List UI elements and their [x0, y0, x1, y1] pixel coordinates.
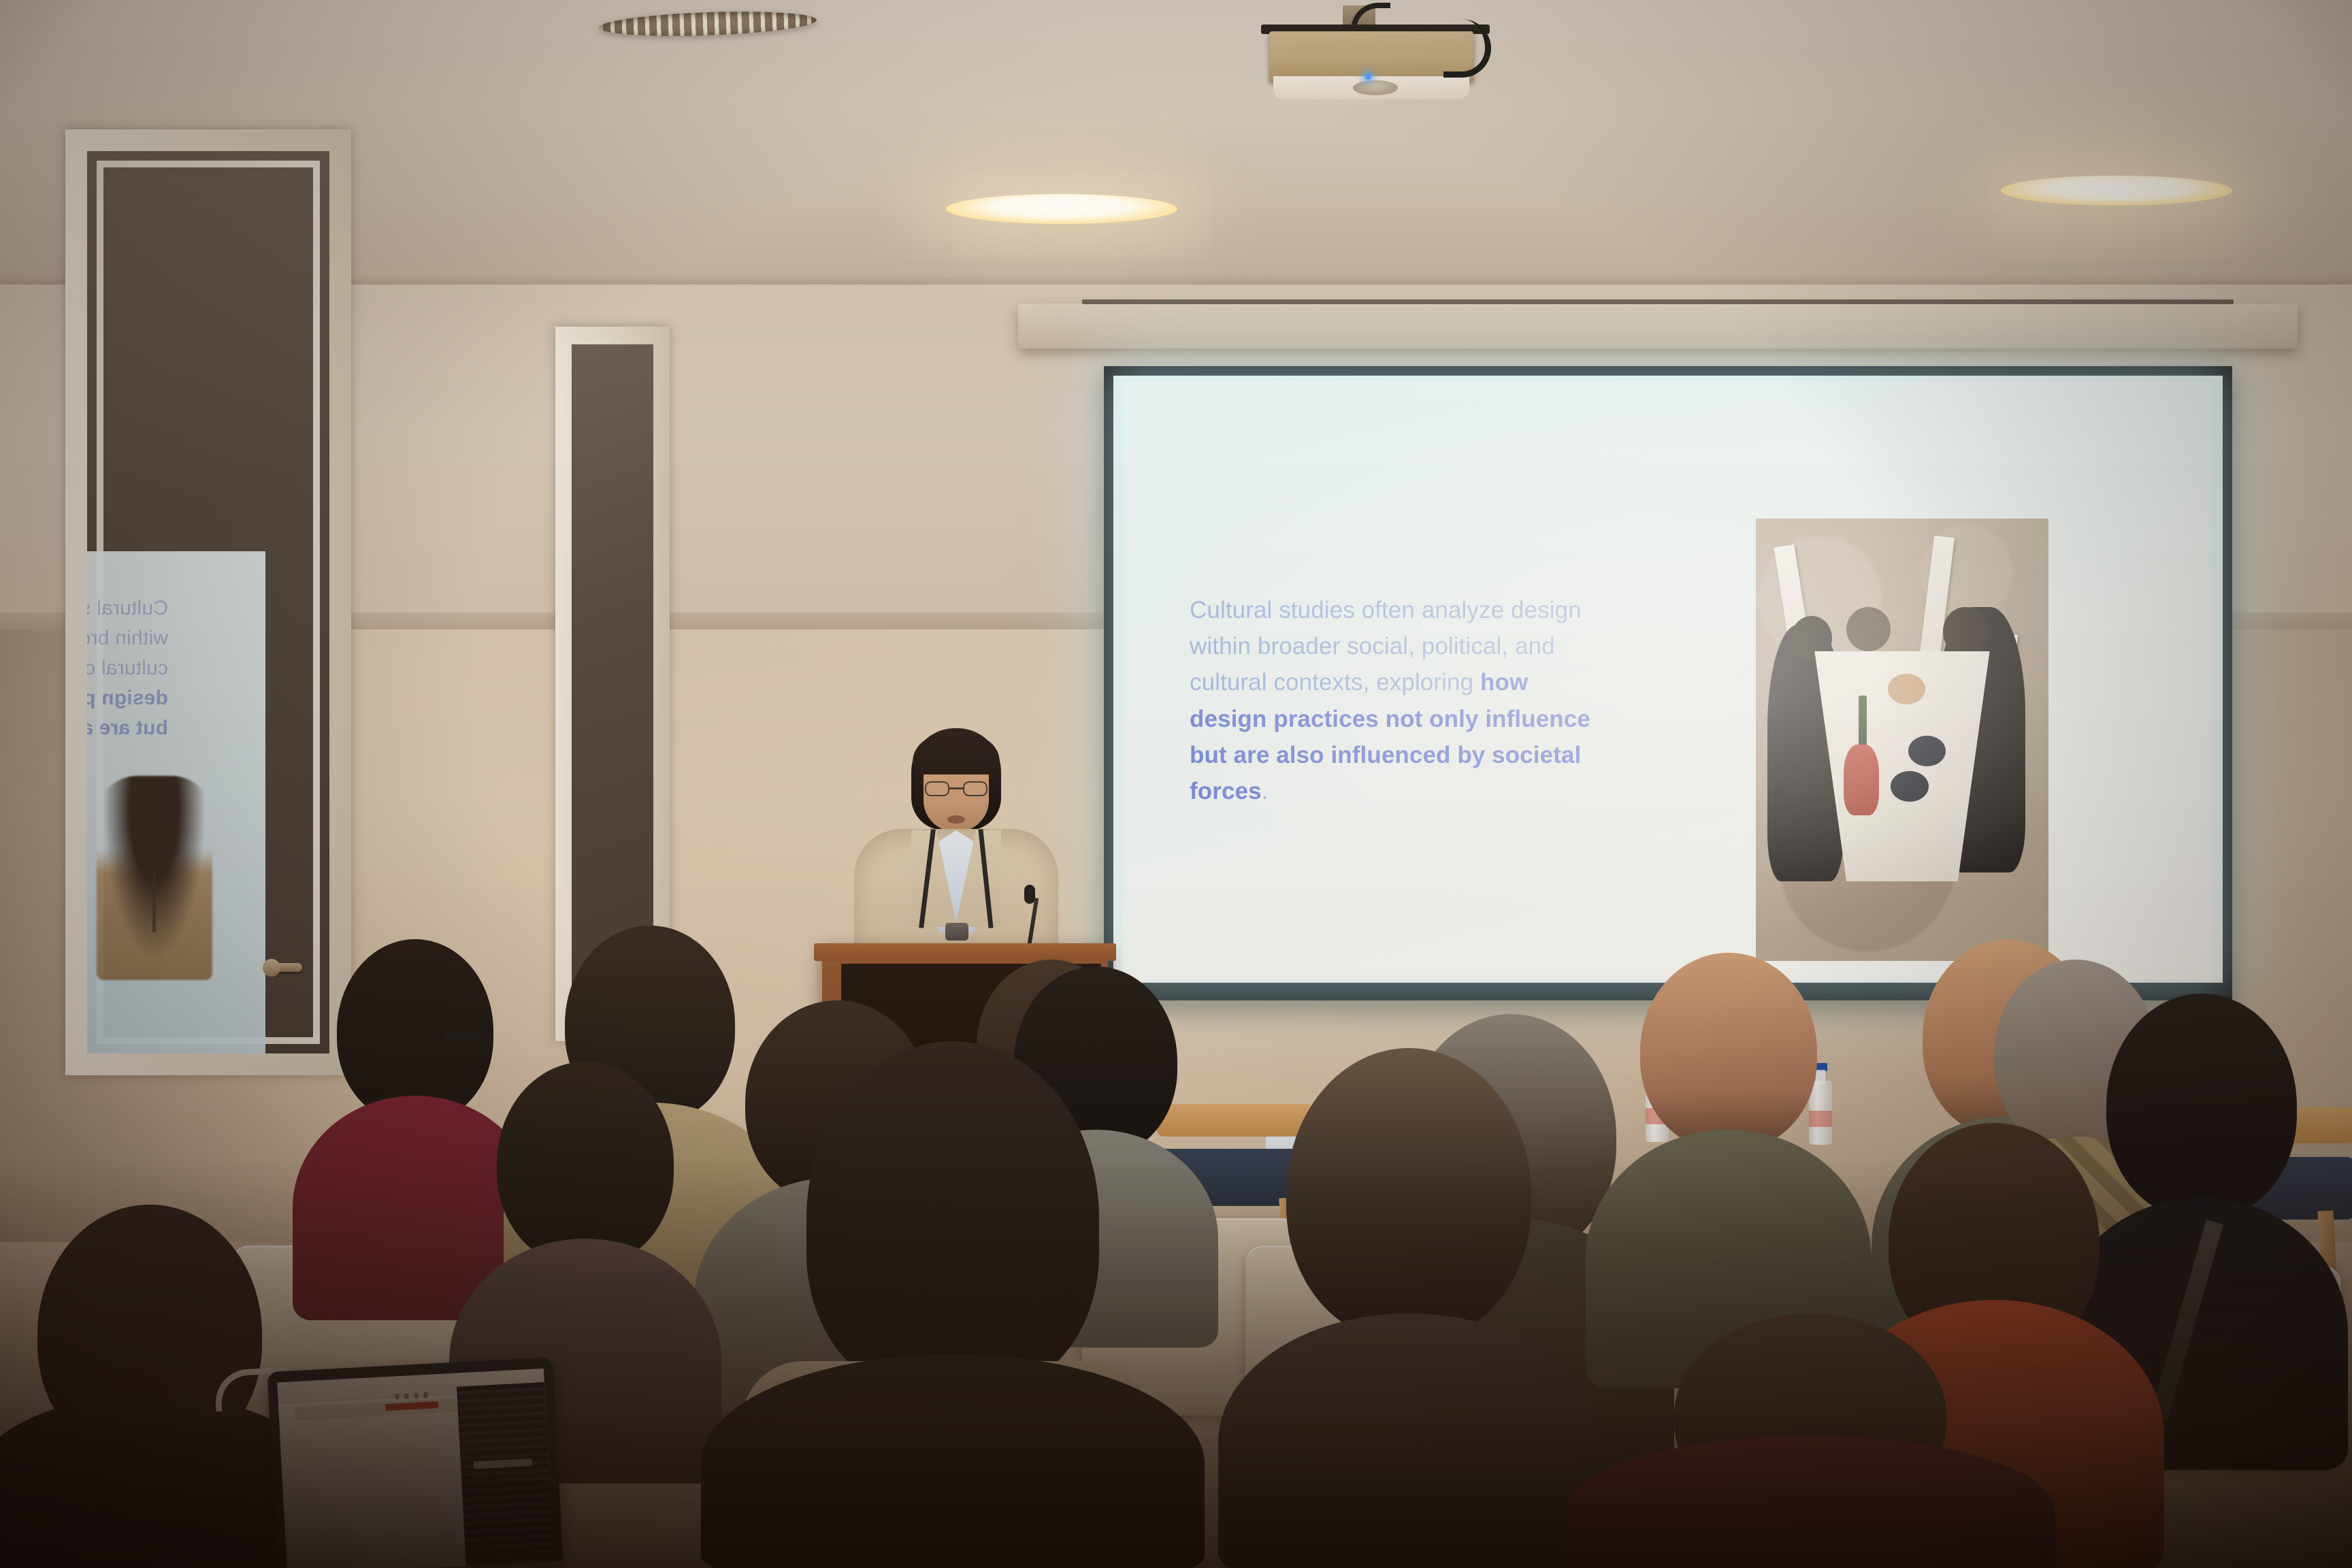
speaker-mouth: [947, 815, 965, 823]
projector-body: [1269, 31, 1473, 82]
slide-photo-dish-2: [1908, 736, 1946, 767]
slide-text-period: .: [1262, 778, 1269, 804]
projector-lens-icon: [1353, 80, 1398, 95]
conference-room-scene: Cultural s within bro cultural co design…: [0, 0, 2352, 1568]
reflected-projection: Cultural s within bro cultural co design…: [87, 551, 265, 1053]
ceiling: [0, 0, 2352, 293]
reflected-line-1: Cultural s: [87, 597, 168, 619]
speaker-glasses-icon: [925, 781, 987, 796]
reflected-line-3: cultural co: [87, 657, 168, 679]
slide-photo-head-back: [1846, 607, 1891, 651]
glasses-icon: [444, 1034, 479, 1040]
slide-photo-dish-1: [1888, 674, 1926, 705]
screen-surface: Cultural studies often analyze design wi…: [1113, 376, 2223, 983]
projector-led-indicator: [1365, 73, 1371, 80]
projection-screen: Cultural studies often analyze design wi…: [1104, 366, 2232, 1000]
ceiling-light-right: [2001, 176, 2232, 206]
slide-photo-head-right: [1943, 607, 1987, 656]
door-glass-left[interactable]: Cultural s within bro cultural co design…: [87, 151, 329, 1053]
slide-photo: [1756, 519, 2048, 961]
door-glass-middle[interactable]: [572, 344, 653, 1025]
reflected-line-4: design p: [87, 687, 168, 709]
slide-photo-dish-3: [1891, 771, 1929, 802]
projector: [1269, 5, 1473, 108]
screen-housing: [1018, 304, 2298, 348]
slide-photo-red-figure: [1844, 745, 1879, 815]
speaker-fringe: [913, 736, 1000, 774]
speaker-badge: [945, 923, 968, 941]
microphone-head-icon: [1024, 885, 1035, 904]
reflected-line-2: within bro: [87, 627, 168, 649]
podium-top: [814, 943, 1116, 961]
reflected-slide-text: Cultural s within bro cultural co design…: [87, 593, 168, 743]
slide-body-text: Cultural studies often analyze design wi…: [1190, 592, 1612, 809]
head: [1640, 953, 1817, 1150]
foreground-shadow: [0, 1157, 2352, 1568]
ceiling-light-left: [946, 194, 1177, 224]
reflected-line-5: but are a: [87, 717, 168, 739]
reflected-lanyard: [152, 871, 156, 932]
